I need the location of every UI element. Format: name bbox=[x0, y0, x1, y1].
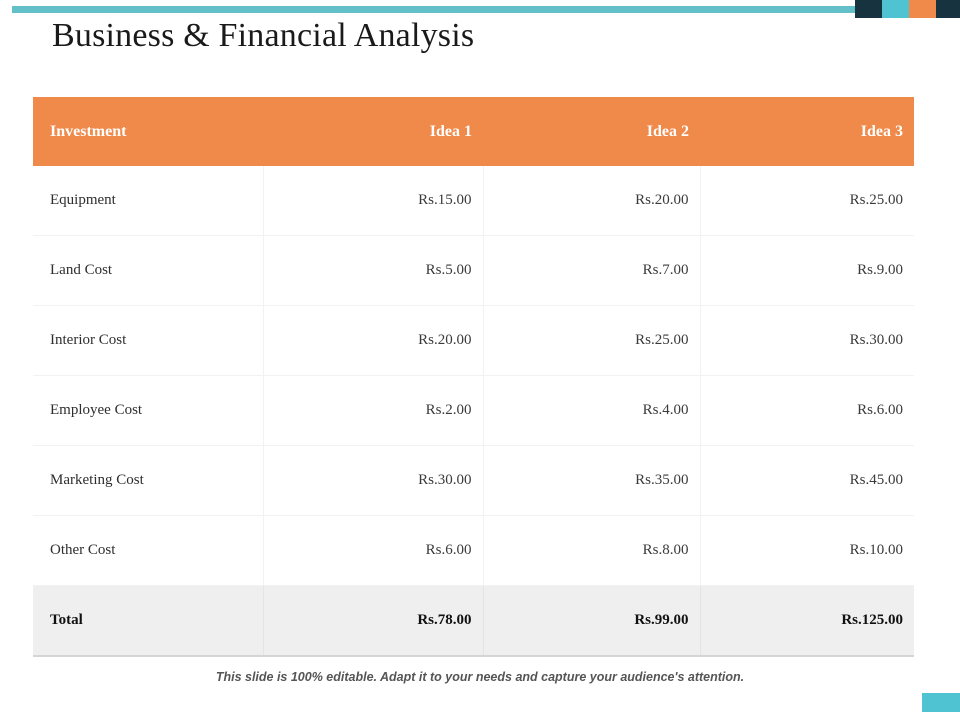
decoration-block-teal bbox=[882, 0, 909, 18]
cell-idea-2: Rs.35.00 bbox=[483, 446, 700, 516]
cell-idea-3: Rs.6.00 bbox=[700, 376, 914, 446]
row-label: Equipment bbox=[33, 166, 263, 236]
row-label: Employee Cost bbox=[33, 376, 263, 446]
slide-canvas: Business & Financial Analysis Investment… bbox=[0, 0, 960, 720]
cell-idea-1: Rs.15.00 bbox=[263, 166, 483, 236]
table-row: Marketing Cost Rs.30.00 Rs.35.00 Rs.45.0… bbox=[33, 446, 914, 516]
total-idea-3: Rs.125.00 bbox=[700, 586, 914, 657]
cell-idea-3: Rs.10.00 bbox=[700, 516, 914, 586]
cell-idea-2: Rs.4.00 bbox=[483, 376, 700, 446]
column-header-idea-2: Idea 2 bbox=[483, 97, 700, 166]
table-row: Employee Cost Rs.2.00 Rs.4.00 Rs.6.00 bbox=[33, 376, 914, 446]
decoration-block-orange bbox=[909, 0, 936, 18]
table-header: Investment Idea 1 Idea 2 Idea 3 bbox=[33, 97, 914, 166]
total-idea-1: Rs.78.00 bbox=[263, 586, 483, 657]
top-divider-rule bbox=[12, 6, 855, 13]
table-header-row: Investment Idea 1 Idea 2 Idea 3 bbox=[33, 97, 914, 166]
table-row: Interior Cost Rs.20.00 Rs.25.00 Rs.30.00 bbox=[33, 306, 914, 376]
cell-idea-1: Rs.5.00 bbox=[263, 236, 483, 306]
cell-idea-1: Rs.20.00 bbox=[263, 306, 483, 376]
cell-idea-1: Rs.6.00 bbox=[263, 516, 483, 586]
cell-idea-2: Rs.25.00 bbox=[483, 306, 700, 376]
row-label: Land Cost bbox=[33, 236, 263, 306]
column-header-idea-1: Idea 1 bbox=[263, 97, 483, 166]
cell-idea-3: Rs.25.00 bbox=[700, 166, 914, 236]
table-row: Land Cost Rs.5.00 Rs.7.00 Rs.9.00 bbox=[33, 236, 914, 306]
table-row: Equipment Rs.15.00 Rs.20.00 Rs.25.00 bbox=[33, 166, 914, 236]
row-label: Interior Cost bbox=[33, 306, 263, 376]
total-idea-2: Rs.99.00 bbox=[483, 586, 700, 657]
top-right-decoration bbox=[855, 0, 960, 18]
decoration-block-navy-2 bbox=[936, 0, 960, 18]
page-title: Business & Financial Analysis bbox=[52, 17, 474, 55]
cell-idea-2: Rs.7.00 bbox=[483, 236, 700, 306]
decoration-block-navy-1 bbox=[855, 0, 882, 18]
cell-idea-3: Rs.30.00 bbox=[700, 306, 914, 376]
column-header-investment: Investment bbox=[33, 97, 263, 166]
column-header-idea-3: Idea 3 bbox=[700, 97, 914, 166]
table-row: Other Cost Rs.6.00 Rs.8.00 Rs.10.00 bbox=[33, 516, 914, 586]
table-total-row: Total Rs.78.00 Rs.99.00 Rs.125.00 bbox=[33, 586, 914, 657]
row-label: Marketing Cost bbox=[33, 446, 263, 516]
bottom-right-decoration bbox=[922, 693, 960, 712]
table-body: Equipment Rs.15.00 Rs.20.00 Rs.25.00 Lan… bbox=[33, 166, 914, 656]
cell-idea-3: Rs.45.00 bbox=[700, 446, 914, 516]
financial-table: Investment Idea 1 Idea 2 Idea 3 Equipmen… bbox=[33, 97, 914, 657]
cell-idea-1: Rs.2.00 bbox=[263, 376, 483, 446]
financial-table-container: Investment Idea 1 Idea 2 Idea 3 Equipmen… bbox=[33, 97, 914, 657]
row-label: Other Cost bbox=[33, 516, 263, 586]
editable-note: This slide is 100% editable. Adapt it to… bbox=[0, 670, 960, 684]
cell-idea-3: Rs.9.00 bbox=[700, 236, 914, 306]
cell-idea-1: Rs.30.00 bbox=[263, 446, 483, 516]
cell-idea-2: Rs.8.00 bbox=[483, 516, 700, 586]
cell-idea-2: Rs.20.00 bbox=[483, 166, 700, 236]
total-label: Total bbox=[33, 586, 263, 657]
